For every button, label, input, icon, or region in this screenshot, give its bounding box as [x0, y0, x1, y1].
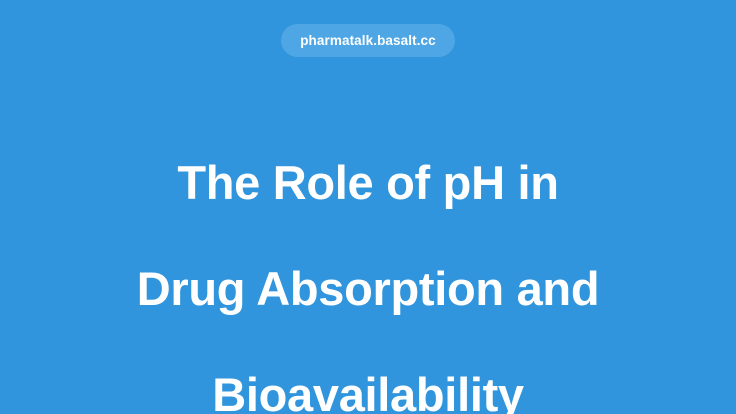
title-block: The Role of pH in Drug Absorption and Bi… — [0, 103, 736, 414]
title-card-slide: pharmatalk.basalt.cc The Role of pH in D… — [0, 0, 736, 414]
site-domain-badge[interactable]: pharmatalk.basalt.cc — [281, 24, 455, 57]
page-title: The Role of pH in Drug Absorption and Bi… — [60, 103, 676, 414]
page-title-line-3: Bioavailability — [212, 368, 524, 414]
badge-row: pharmatalk.basalt.cc — [0, 24, 736, 57]
page-title-line-2: Drug Absorption and — [137, 262, 600, 315]
page-title-line-1: The Role of pH in — [177, 156, 558, 209]
